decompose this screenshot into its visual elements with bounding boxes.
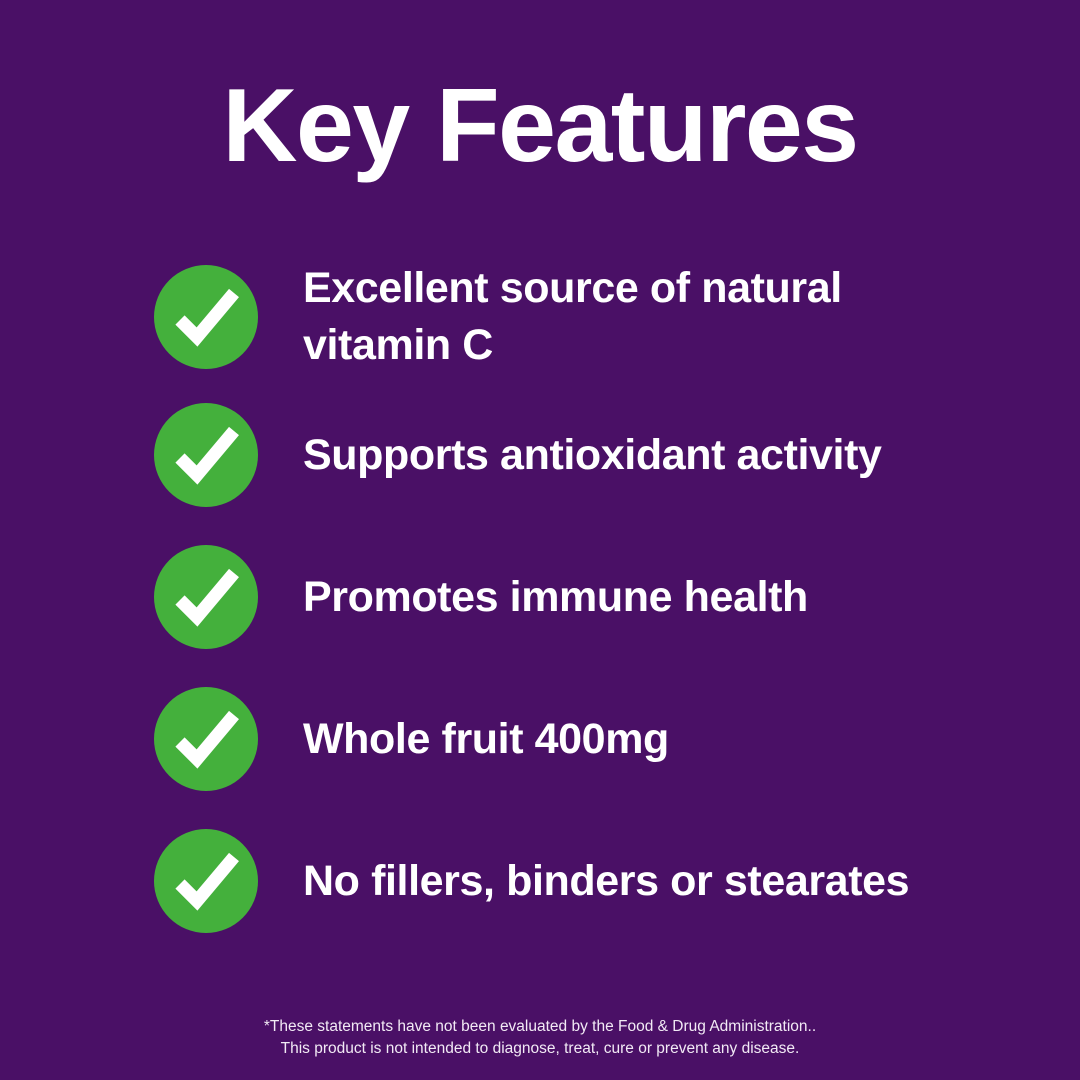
list-item: Whole fruit 400mg: [154, 687, 1014, 791]
disclaimer-line-1: *These statements have not been evaluate…: [0, 1016, 1080, 1038]
check-icon: [154, 687, 258, 791]
check-icon: [154, 829, 258, 933]
list-item-label: Supports antioxidant activity: [258, 427, 1014, 484]
list-item: Supports antioxidant activity: [154, 403, 1014, 507]
disclaimer-line-2: This product is not intended to diagnose…: [0, 1038, 1080, 1060]
check-icon: [154, 265, 258, 369]
page-title: Key Features: [0, 74, 1080, 178]
disclaimer: *These statements have not been evaluate…: [0, 1016, 1080, 1060]
key-features-graphic: Key Features Excellent source of natural…: [0, 0, 1080, 1080]
check-icon: [154, 403, 258, 507]
feature-list: Excellent source of natural vitamin C Su…: [154, 257, 1014, 933]
list-item: No fillers, binders or stearates: [154, 829, 1014, 933]
list-item: Promotes immune health: [154, 545, 1014, 649]
list-item: Excellent source of natural vitamin C: [154, 257, 1014, 377]
list-item-label: Promotes immune health: [258, 569, 1014, 626]
list-item-label: Excellent source of natural vitamin C: [258, 260, 858, 374]
list-item-label: No fillers, binders or stearates: [258, 853, 1014, 910]
check-icon: [154, 545, 258, 649]
list-item-label: Whole fruit 400mg: [258, 711, 1014, 768]
